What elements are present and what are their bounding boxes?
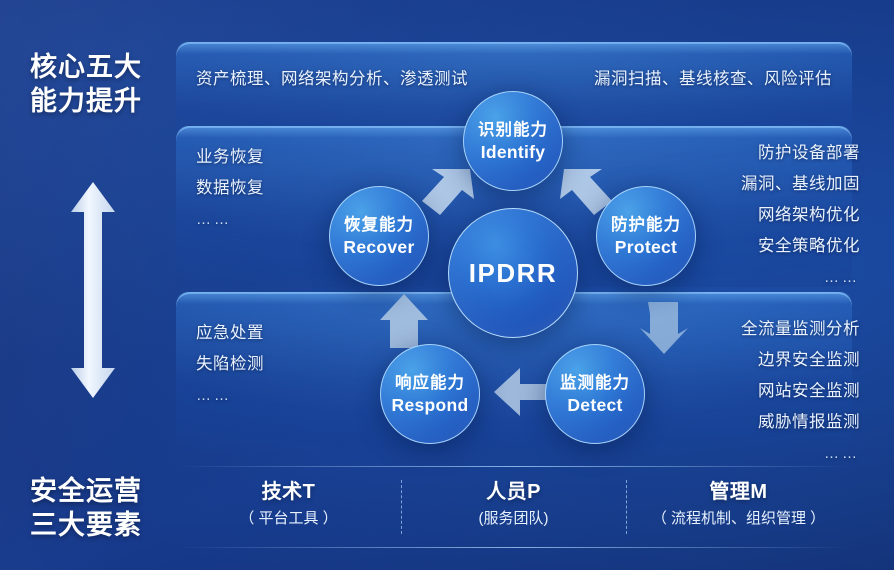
panel3-right-line-2: 边界安全监测 (741, 345, 860, 376)
caption-security-operations: 安全运营 三大要素 (0, 474, 172, 542)
tpm-people-head: 人员P (401, 478, 626, 507)
wheel-node-identify-en: Identify (481, 141, 546, 163)
panel2-right-line-3: 网络架构优化 (741, 200, 860, 231)
wheel-node-identify[interactable]: 识别能力 Identify (463, 91, 563, 191)
tpm-management-head: 管理M (626, 478, 851, 507)
panel3-left-line-3: …… (196, 380, 264, 411)
wheel-node-recover[interactable]: 恢复能力 Recover (329, 186, 429, 286)
panel3-right-line-4: 威胁情报监测 (741, 407, 860, 438)
wheel-node-detect-cn: 监测能力 (560, 373, 630, 394)
tpm-management-sub: （ 流程机制、组织管理 ） (626, 507, 851, 531)
panel3-left-line-2: 失陷检测 (196, 349, 264, 380)
caption-core-line1: 核心五大 (0, 50, 172, 84)
diagram-canvas: 核心五大 能力提升 安全运营 三大要素 资产梳理、网络架构分析、渗透测试 漏洞扫… (0, 0, 894, 570)
panel2-left-line-1: 业务恢复 (196, 142, 264, 173)
panel3-right-line-3: 网站安全监测 (741, 376, 860, 407)
band-divider-top (176, 466, 852, 467)
double-arrow-vertical-icon (68, 182, 118, 398)
wheel-node-recover-en: Recover (343, 236, 414, 258)
panel2-left-text: 业务恢复 数据恢复 …… (196, 142, 264, 235)
tpm-people-sub: (服务团队) (401, 507, 626, 531)
panel1-left-line-1: 资产梳理、网络架构分析、渗透测试 (196, 64, 468, 95)
panel2-left-line-3: …… (196, 204, 264, 235)
caption-secops-line1: 安全运营 (0, 474, 172, 508)
tpm-band: 技术T （ 平台工具 ） 人员P (服务团队) 管理M （ 流程机制、组织管理 … (176, 466, 852, 548)
wheel-node-detect-en: Detect (567, 394, 622, 416)
tpm-item-technology[interactable]: 技术T （ 平台工具 ） (176, 478, 401, 531)
panel2-right-line-5: …… (741, 262, 860, 293)
wheel-node-respond[interactable]: 响应能力 Respond (380, 344, 480, 444)
panel2-right-line-1: 防护设备部署 (741, 138, 860, 169)
wheel-node-protect-en: Protect (615, 236, 677, 258)
band-divider-bottom (176, 547, 852, 548)
panel2-left-line-2: 数据恢复 (196, 173, 264, 204)
caption-core-capabilities: 核心五大 能力提升 (0, 50, 172, 118)
panel3-left-text: 应急处置 失陷检测 …… (196, 318, 264, 411)
panel3-left-line-1: 应急处置 (196, 318, 264, 349)
panel3-right-text: 全流量监测分析 边界安全监测 网站安全监测 威胁情报监测 …… (741, 314, 860, 469)
wheel-node-respond-cn: 响应能力 (395, 373, 465, 394)
panel2-right-line-2: 漏洞、基线加固 (741, 169, 860, 200)
caption-secops-line2: 三大要素 (0, 508, 172, 542)
panel2-right-text: 防护设备部署 漏洞、基线加固 网络架构优化 安全策略优化 …… (741, 138, 860, 293)
panel3-right-line-5: …… (741, 438, 860, 469)
wheel-node-identify-cn: 识别能力 (478, 120, 548, 141)
wheel-center-label: IPDRR (469, 262, 557, 284)
wheel-node-respond-en: Respond (392, 394, 469, 416)
wheel-node-protect[interactable]: 防护能力 Protect (596, 186, 696, 286)
wheel-node-detect[interactable]: 监测能力 Detect (545, 344, 645, 444)
wheel-center-ipdrr[interactable]: IPDRR (448, 208, 578, 338)
tpm-technology-sub: （ 平台工具 ） (176, 507, 401, 531)
tpm-item-management[interactable]: 管理M （ 流程机制、组织管理 ） (626, 478, 851, 531)
wheel-node-protect-cn: 防护能力 (611, 215, 681, 236)
panel3-right-line-1: 全流量监测分析 (741, 314, 860, 345)
wheel-node-recover-cn: 恢复能力 (344, 215, 414, 236)
caption-core-line2: 能力提升 (0, 84, 172, 118)
tpm-item-people[interactable]: 人员P (服务团队) (401, 478, 626, 531)
tpm-technology-head: 技术T (176, 478, 401, 507)
panel1-right-line-1: 漏洞扫描、基线核查、风险评估 (594, 64, 832, 95)
panel1-right-text: 漏洞扫描、基线核查、风险评估 (594, 64, 832, 95)
panel2-right-line-4: 安全策略优化 (741, 231, 860, 262)
panel1-left-text: 资产梳理、网络架构分析、渗透测试 (196, 64, 468, 95)
